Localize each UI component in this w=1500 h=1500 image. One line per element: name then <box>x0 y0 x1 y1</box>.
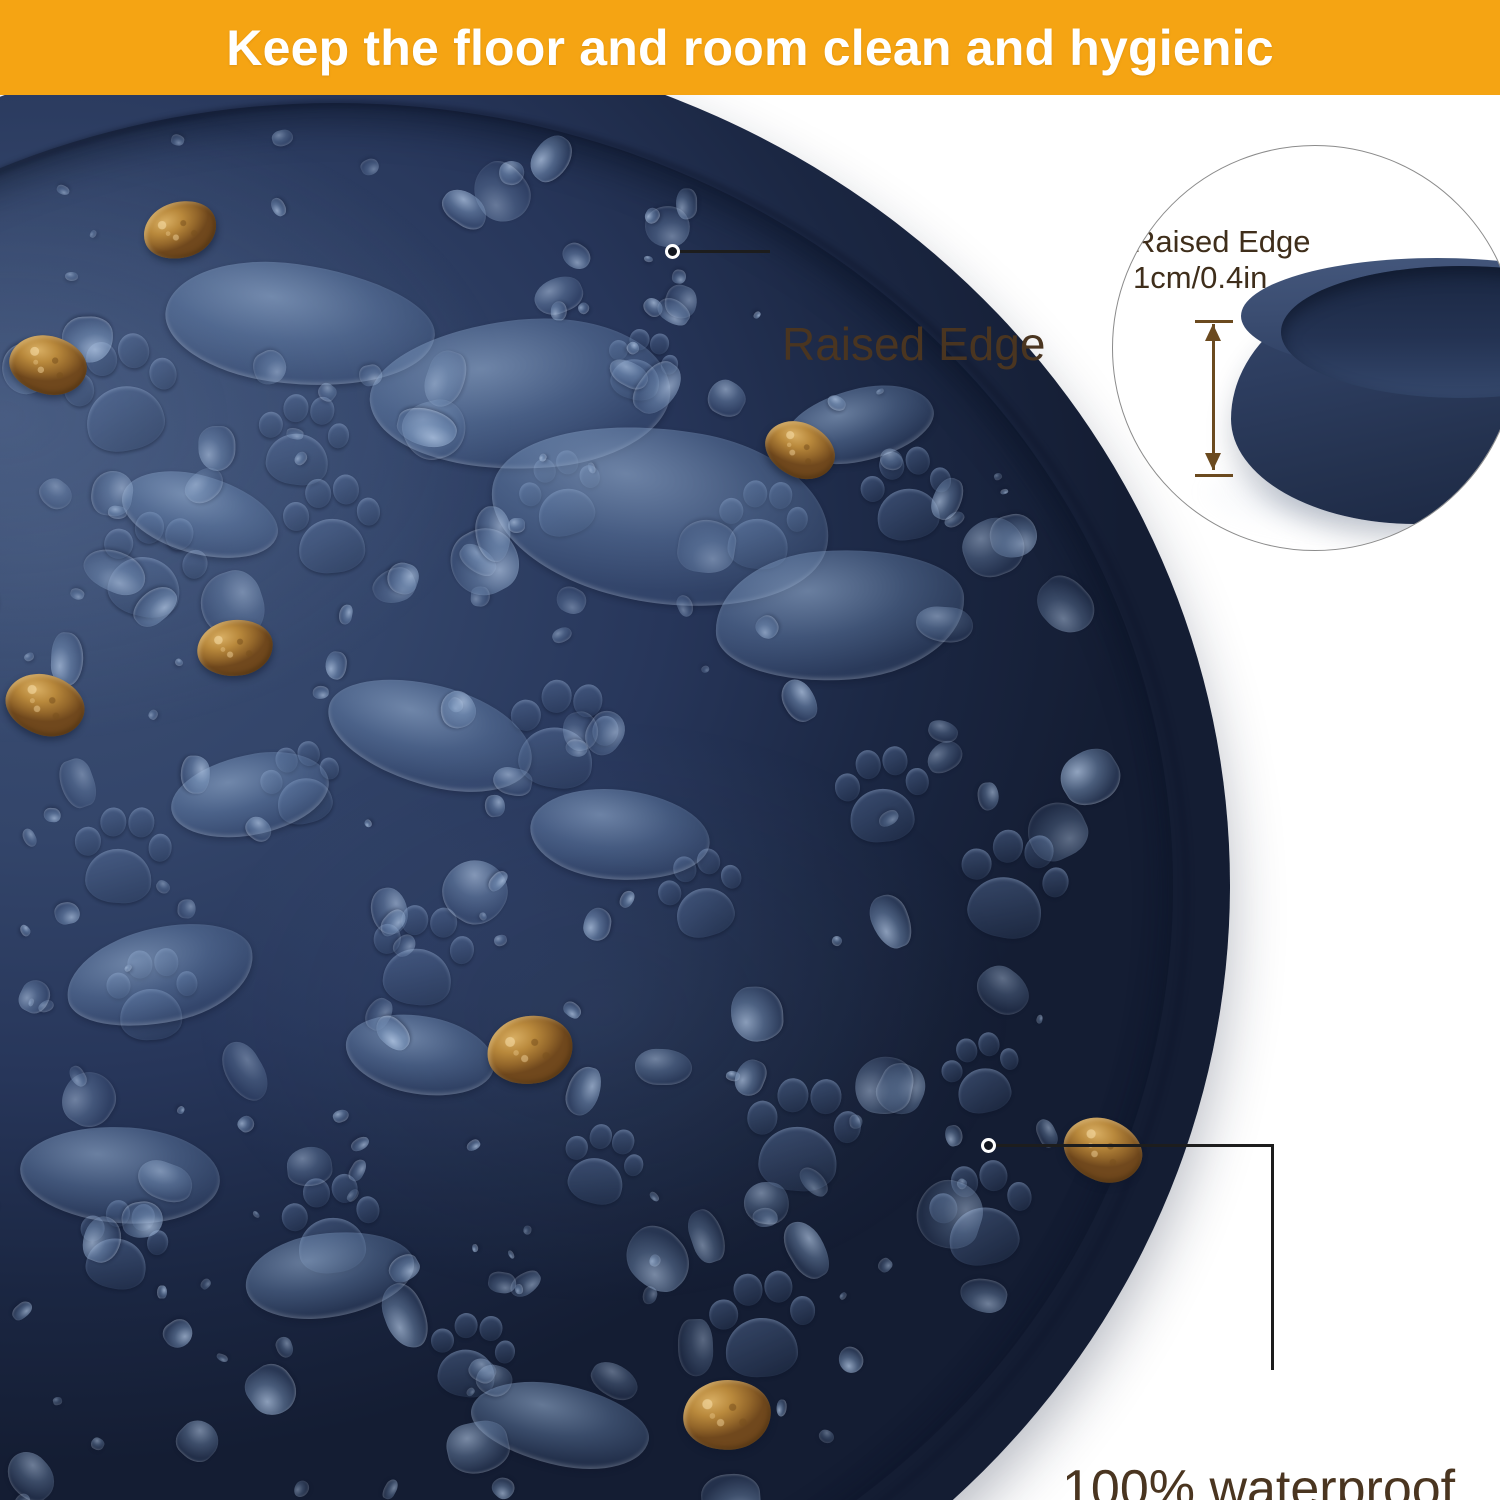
water-droplet <box>676 188 697 219</box>
water-droplet <box>43 807 61 822</box>
waterproof-marker-dot <box>981 1138 996 1153</box>
raised-edge-leader-line <box>680 250 770 253</box>
dimension-cap-top <box>1195 320 1233 323</box>
water-droplet <box>849 1114 863 1129</box>
waterproof-leader-horizontal <box>996 1144 1274 1147</box>
water-droplet <box>177 898 196 918</box>
dimension-cap-bottom <box>1195 474 1233 477</box>
raised-edge-detail-inset: Raised Edge 1cm/0.4in <box>1112 145 1500 551</box>
waterproof-label: 100% waterproof <box>1062 1459 1455 1500</box>
water-droplet <box>181 756 211 794</box>
headline-banner: Keep the floor and room clean and hygien… <box>0 0 1500 95</box>
dimension-shaft <box>1212 324 1215 470</box>
inset-measurement-label: Raised Edge 1cm/0.4in <box>1133 224 1311 296</box>
headline-text: Keep the floor and room clean and hygien… <box>226 23 1273 73</box>
waterproof-leader-vertical <box>1271 1144 1274 1370</box>
product-marketing-image: Keep the floor and room clean and hygien… <box>0 0 1500 1500</box>
water-droplet <box>198 426 235 471</box>
water-droplet <box>157 1286 167 1299</box>
water-droplet <box>551 301 567 321</box>
product-photo: Raised Edge 100% waterproof Raised Edge … <box>0 95 1500 1500</box>
raised-edge-label: Raised Edge <box>782 317 1045 371</box>
dimension-arrow-up-icon <box>1205 324 1221 341</box>
dimension-arrow-down-icon <box>1205 453 1221 470</box>
raised-edge-marker-dot <box>665 244 680 259</box>
water-droplet <box>312 686 328 699</box>
water-droplet <box>635 1048 692 1084</box>
